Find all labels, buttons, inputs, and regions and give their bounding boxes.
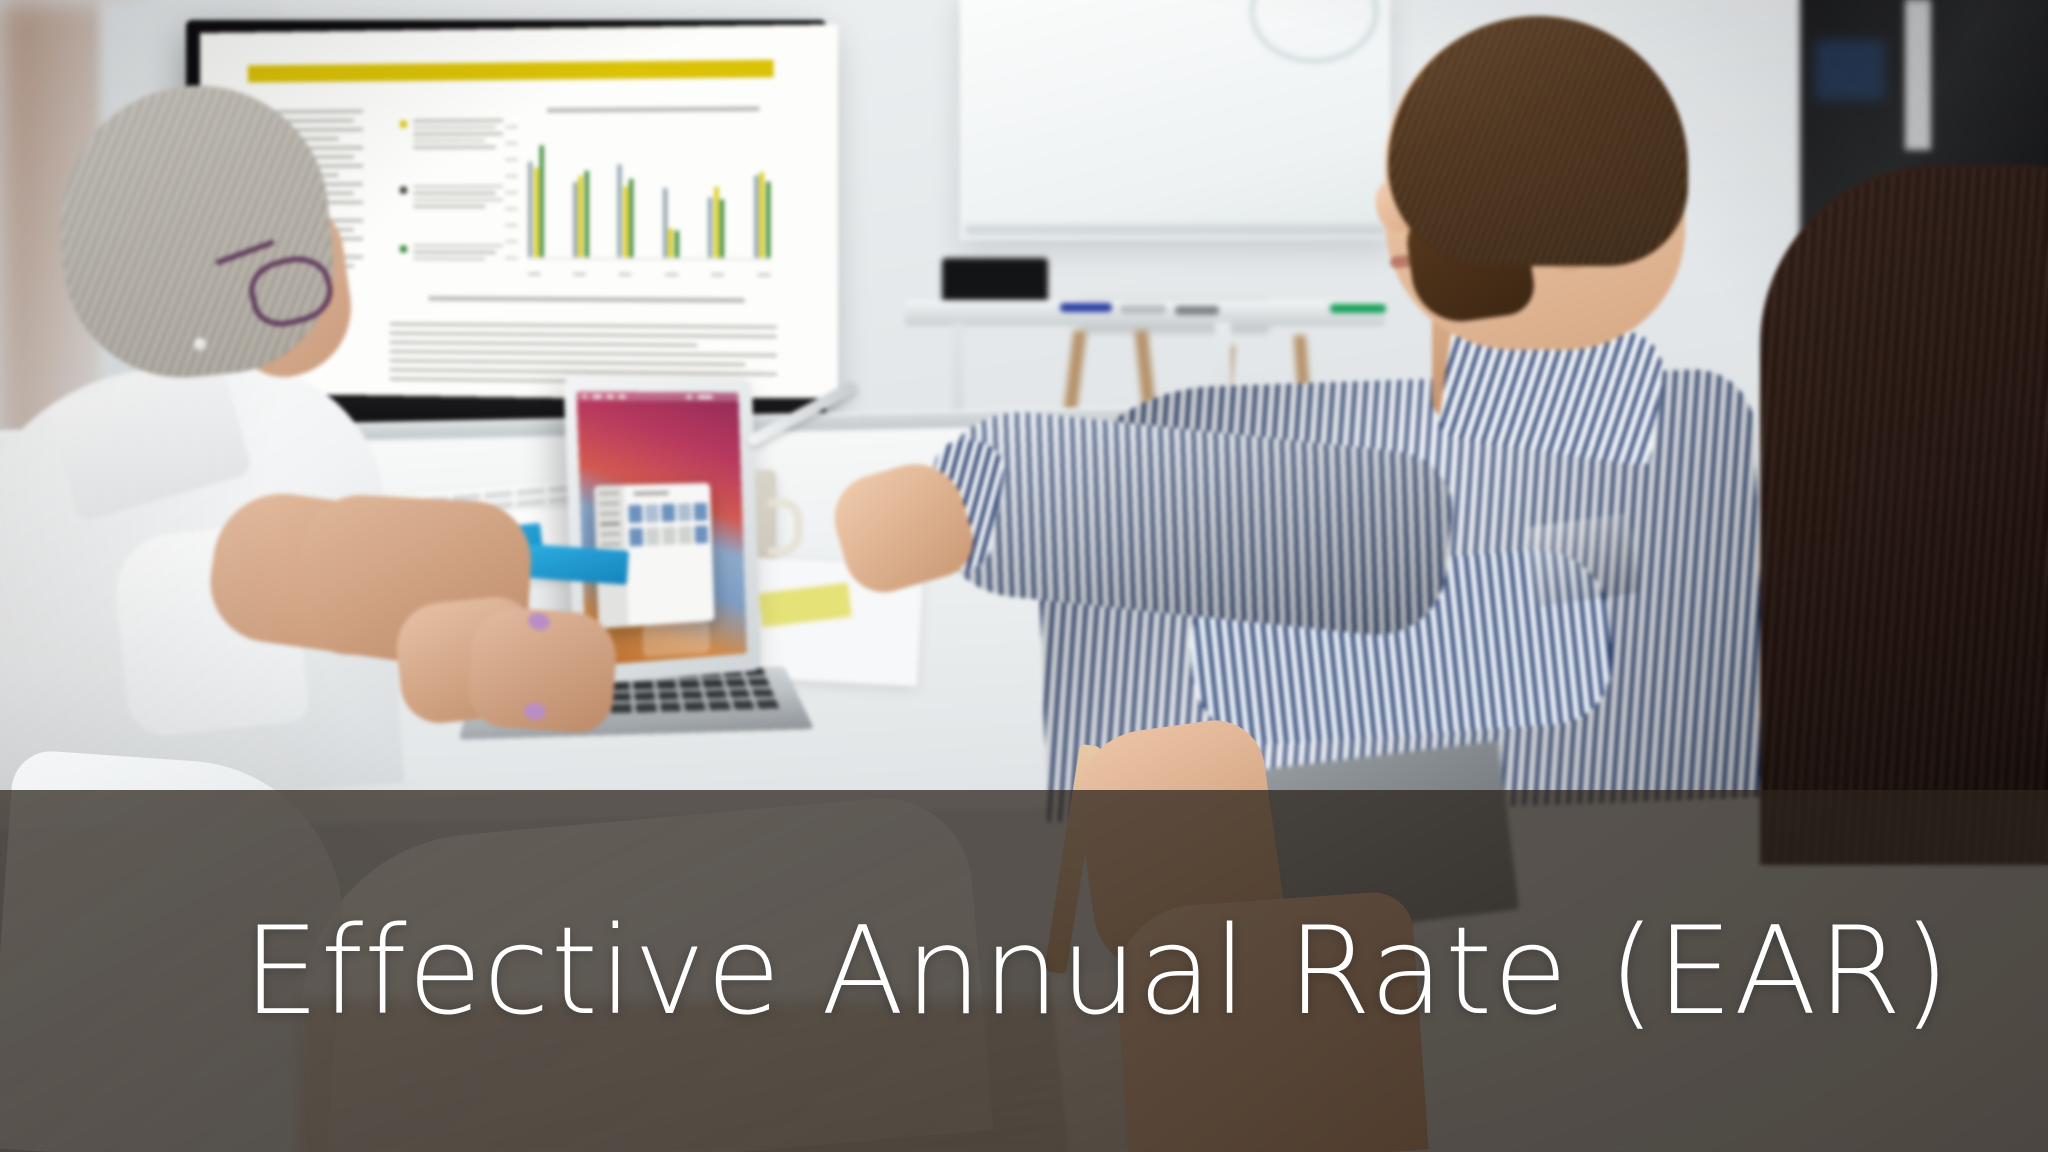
document-header-bar	[248, 60, 774, 83]
bar-group	[754, 124, 770, 257]
file-icon[interactable]	[629, 528, 643, 547]
menubar-clock	[698, 395, 713, 399]
bar	[663, 189, 667, 258]
finder-icon-grid[interactable]	[628, 503, 708, 547]
foreground-person-hair-texture	[1762, 168, 2048, 864]
bar	[669, 228, 673, 257]
bar	[754, 175, 758, 258]
bar	[720, 199, 724, 258]
marker-dark	[1175, 306, 1219, 315]
bar	[714, 187, 718, 257]
bar	[618, 165, 622, 257]
x-axis	[528, 258, 770, 260]
file-icon[interactable]	[694, 503, 708, 521]
bar-group	[708, 125, 724, 258]
y-axis-tick	[505, 126, 517, 128]
y-axis-tick	[505, 208, 517, 210]
bar	[623, 186, 627, 257]
sidebar-item[interactable]	[599, 501, 619, 506]
chart-title-placeholder	[547, 107, 760, 113]
chart-legend	[400, 119, 503, 297]
y-axis-tick	[505, 241, 517, 243]
bar	[675, 231, 679, 258]
mug-handle	[768, 498, 803, 556]
legend-item	[400, 185, 503, 212]
y-axis-tick	[505, 257, 517, 259]
bar	[766, 182, 770, 258]
file-icon[interactable]	[645, 504, 659, 522]
bar	[760, 172, 764, 257]
bar	[708, 198, 712, 258]
table-dark-box	[942, 258, 1048, 306]
laptop-menu-bar[interactable]	[576, 391, 738, 401]
legend-swatch	[400, 186, 407, 193]
marker-green	[1330, 304, 1386, 313]
file-icon[interactable]	[646, 527, 660, 546]
bar	[579, 176, 583, 258]
bar	[534, 168, 538, 257]
page-title: Effective Annual Rate (EAR)	[243, 911, 1951, 1032]
y-axis-tick	[505, 191, 517, 193]
bar-group	[663, 125, 679, 258]
rack-slot	[1905, 0, 1931, 150]
bar	[584, 170, 588, 257]
y-axis-tick	[505, 224, 517, 226]
sidebar-item[interactable]	[601, 542, 621, 547]
sidebar-item[interactable]	[599, 491, 619, 496]
legend-item	[400, 244, 503, 264]
finder-window-title	[634, 491, 669, 496]
menubar-status-icon[interactable]	[686, 395, 692, 399]
sidebar-item[interactable]	[600, 532, 620, 537]
bar	[629, 179, 633, 257]
rack-blue-light	[1815, 40, 1885, 100]
file-icon[interactable]	[694, 525, 708, 543]
file-icon[interactable]	[678, 526, 692, 544]
menubar-item[interactable]	[593, 394, 602, 398]
bar	[540, 146, 544, 258]
menubar-item[interactable]	[619, 394, 626, 398]
x-axis-tick-labels	[528, 272, 770, 276]
chart-caption	[429, 296, 745, 302]
title-container: Effective Annual Rate (EAR)	[0, 790, 2048, 1152]
screenshot-canvas: Effective Annual Rate (EAR)	[0, 0, 2048, 1152]
bar-group	[618, 125, 634, 257]
menubar-apple-icon[interactable]	[583, 394, 587, 398]
y-axis-tick	[505, 175, 517, 177]
bar-group	[528, 126, 544, 257]
y-axis-tick	[505, 142, 517, 144]
file-icon[interactable]	[628, 505, 642, 524]
bar	[573, 182, 577, 257]
flipchart-stand	[965, 225, 1385, 235]
bar-group	[573, 126, 589, 258]
marker-blue	[1060, 303, 1112, 312]
bar-chart	[505, 124, 770, 280]
shirt-pocket	[1525, 513, 1640, 607]
file-icon[interactable]	[662, 527, 676, 545]
sidebar-item-selected[interactable]	[600, 522, 620, 527]
legend-swatch	[400, 245, 407, 252]
sidebar-item[interactable]	[600, 511, 620, 516]
earring	[194, 338, 207, 351]
legend-item	[400, 119, 503, 153]
menubar-item[interactable]	[607, 394, 614, 398]
file-icon[interactable]	[661, 504, 675, 522]
file-icon[interactable]	[678, 503, 692, 521]
laptop-dock[interactable]	[642, 621, 710, 658]
bar	[528, 161, 532, 257]
bar-groups	[528, 124, 770, 257]
marker-gray	[1120, 305, 1166, 314]
y-axis-tick	[505, 159, 517, 161]
legend-swatch	[400, 121, 407, 128]
